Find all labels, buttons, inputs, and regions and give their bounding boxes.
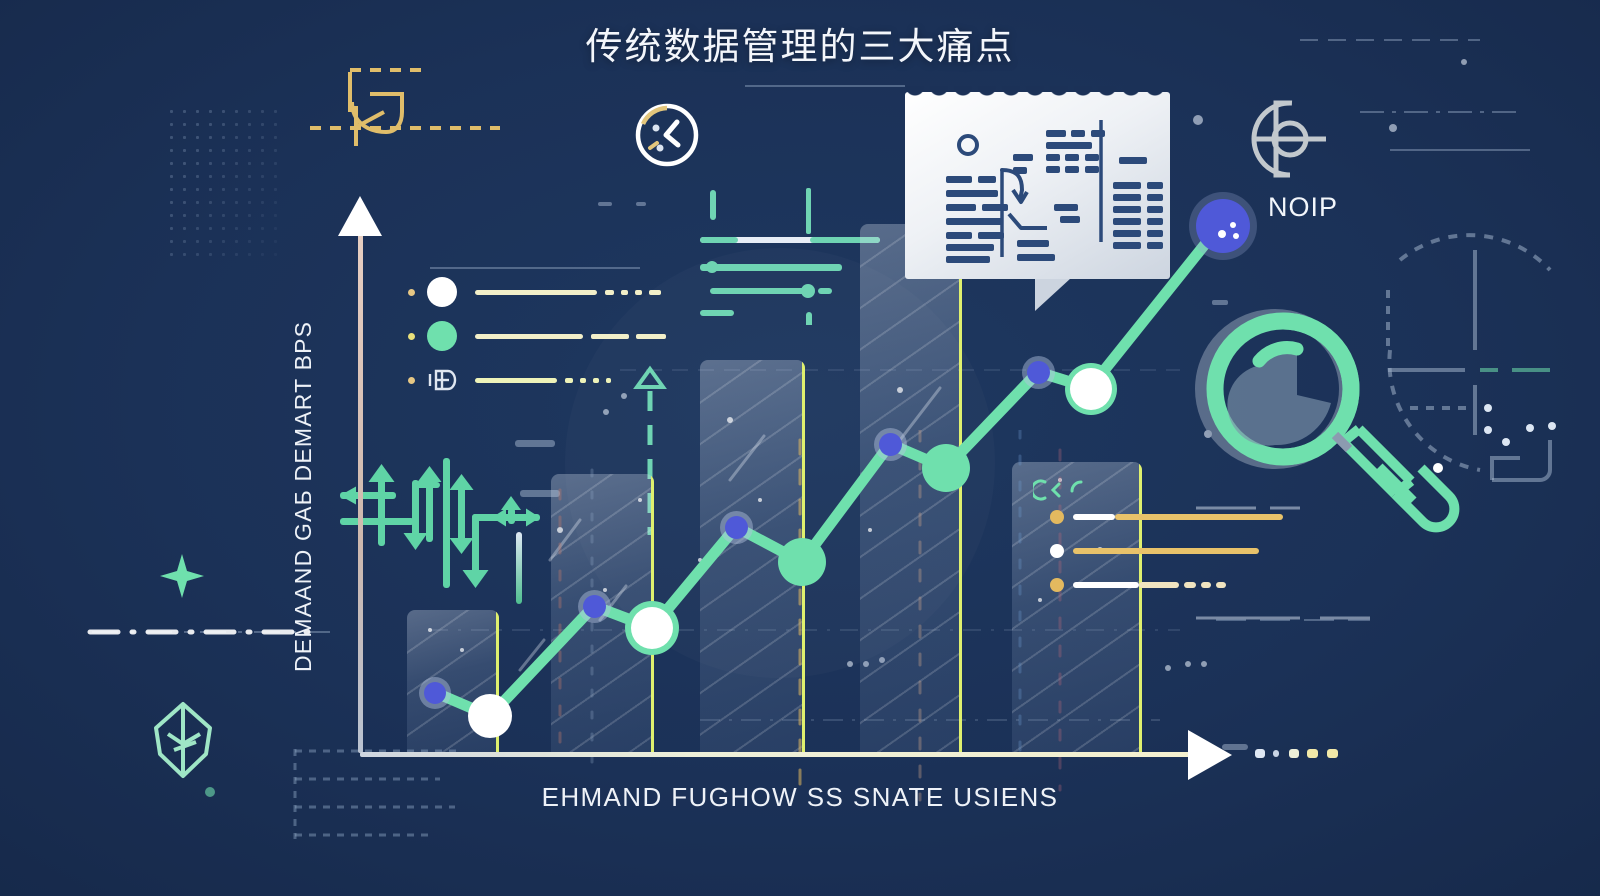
bracket-icons: [1033, 478, 1093, 504]
line-marker-7: [879, 433, 902, 456]
y-axis-line: [358, 228, 363, 753]
y-axis-arrow-icon: [338, 196, 382, 236]
line-marker-6: [778, 538, 826, 586]
page-title: 传统数据管理的三大痛点: [0, 16, 1600, 70]
legend-line-1-dots: [605, 290, 661, 295]
right-legend-bar-1: [1073, 514, 1115, 520]
line-marker-4: [631, 607, 673, 649]
legend-item-3[interactable]: [408, 358, 666, 402]
right-legend-bar-3c: [1184, 582, 1196, 588]
legend-glyph-icon: [427, 365, 457, 395]
target-crosshair-icon: [1246, 95, 1334, 183]
x-axis-line: [360, 752, 1190, 757]
legend-bullet-icon: [408, 333, 415, 340]
right-legend-item-2[interactable]: [1050, 534, 1283, 568]
line-marker-10: [1070, 368, 1112, 410]
right-legend-bar-2: [1073, 548, 1259, 554]
right-legend-bar-3: [1073, 582, 1139, 588]
legend-line-1: [475, 290, 597, 295]
magnifier-icon: [1183, 307, 1483, 537]
document-card-content: [905, 92, 1170, 279]
legend-line-3: [475, 378, 557, 383]
legend-line-2-dots: [591, 334, 666, 339]
leaf-icon: [300, 60, 500, 170]
right-legend-dot-icon: [1050, 544, 1064, 558]
right-legend-dot-icon: [1050, 578, 1064, 592]
legend-bullet-icon: [408, 377, 415, 384]
right-legend-item-3[interactable]: [1050, 568, 1283, 602]
legend-marker-white-circle-icon: [427, 277, 457, 307]
legend-marker-green-circle-icon: [427, 321, 457, 351]
gem-icon: [148, 700, 218, 780]
infographic-canvas: NOIP DEMAAND GAБ DEMART BPS EHMAND FUGHO…: [0, 0, 1600, 896]
x-axis-label: EHMAND FUGHOW SS SNATE USIENS: [0, 782, 1600, 813]
document-card: [905, 92, 1170, 279]
sparkle-icon: [156, 550, 208, 602]
right-legend-bar-3b: [1139, 582, 1179, 588]
x-axis-arrow-icon: [1188, 730, 1232, 780]
legend-item-2[interactable]: [408, 314, 666, 358]
line-marker-5: [725, 516, 748, 539]
clock-icon: [632, 100, 702, 170]
right-legend-bar-3d: [1201, 582, 1211, 588]
line-marker-3: [583, 595, 606, 618]
document-card-tail: [1035, 278, 1071, 311]
y-axis-label: DEMAAND GAБ DEMART BPS: [290, 321, 317, 672]
x-axis-trailing-dots: [1255, 742, 1375, 766]
legend-bullet-icon: [408, 289, 415, 296]
chart-legend: [408, 270, 666, 402]
legend-item-1[interactable]: [408, 270, 666, 314]
right-legend-dot-icon: [1050, 510, 1064, 524]
line-marker-1: [424, 682, 446, 704]
line-marker-8: [922, 444, 970, 492]
line-marker-9: [1027, 361, 1050, 384]
legend-line-2: [475, 334, 583, 339]
document-card-scallop-edge: [905, 86, 1170, 98]
noip-dot-specks: [1206, 218, 1246, 248]
line-marker-2: [468, 694, 512, 738]
noip-label: NOIP: [1268, 192, 1338, 223]
legend-line-3-dots: [565, 378, 611, 383]
right-legend-bar-3e: [1216, 582, 1226, 588]
arrow-cluster-icon: [340, 440, 550, 605]
